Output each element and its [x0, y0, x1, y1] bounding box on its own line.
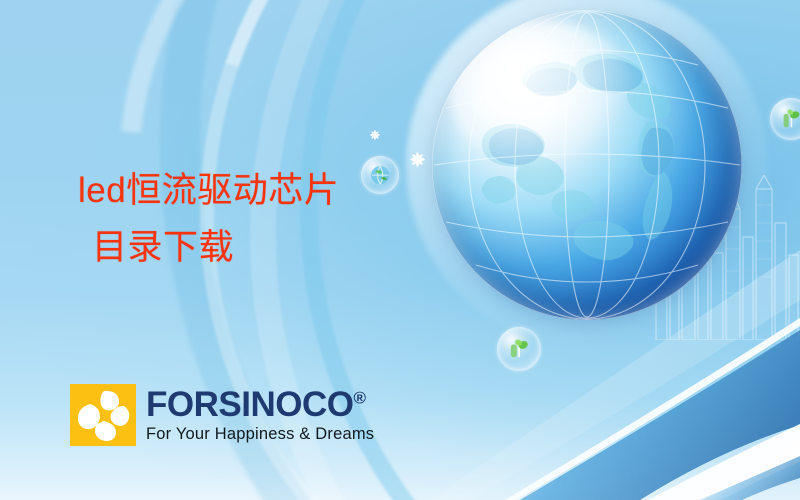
green-leaf-icon	[778, 106, 800, 133]
bubble-sprout-icon	[497, 327, 541, 371]
company-logo: FORSINOCO® For Your Happiness & Dreams	[70, 384, 374, 446]
logo-text-block: FORSINOCO® For Your Happiness & Dreams	[146, 387, 374, 444]
brand-name: FORSINOCO®	[146, 387, 374, 422]
headline-line-2: 目录下载	[92, 220, 339, 277]
headline-line-1: led恒流驱动芯片	[78, 171, 339, 210]
headline-text: led恒流驱动芯片 目录下载	[78, 163, 339, 276]
four-petal-pinwheel-icon	[70, 384, 136, 446]
banner-canvas: led恒流驱动芯片 目录下载 FORSINOCO® For Your Happi…	[0, 0, 800, 500]
globe-sphere	[432, 10, 742, 320]
flower-burst-icon	[404, 146, 431, 173]
brand-tagline: For Your Happiness & Dreams	[146, 425, 374, 444]
brand-name-text: FORSINOCO	[146, 385, 353, 424]
mini-globe-icon	[368, 163, 392, 187]
logo-mark	[70, 384, 136, 446]
earth-globe-icon	[432, 10, 742, 320]
bubble-globe-icon	[361, 156, 399, 194]
registered-trademark-icon: ®	[353, 388, 366, 407]
green-sprout-icon	[505, 335, 533, 363]
flower-burst-icon	[365, 125, 385, 145]
globe-rim	[432, 10, 742, 320]
